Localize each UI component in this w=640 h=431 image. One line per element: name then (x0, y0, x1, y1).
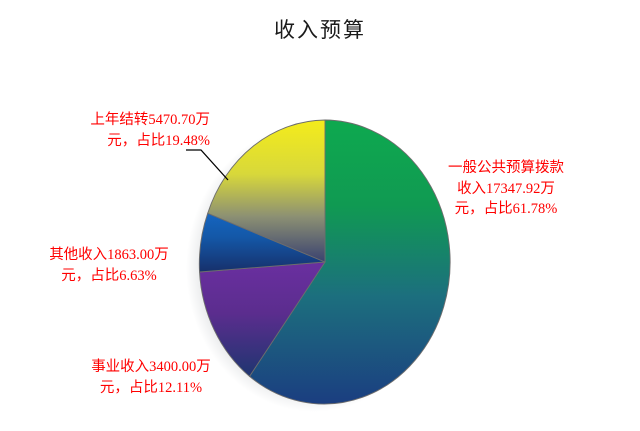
slice-label-operational-income: 事业收入3400.00万 元，占比12.11% (56, 357, 246, 398)
slice-label-carryover: 上年结转5470.70万 元，占比19.48% (30, 110, 210, 151)
slice-label-other-income: 其他收入1863.00万 元，占比6.63% (14, 245, 204, 286)
chart-page: 收入预算 (0, 0, 640, 431)
slice-label-general-public-budget: 一般公共预算拨款 收入17347.92万 元，占比61.78% (448, 158, 564, 220)
